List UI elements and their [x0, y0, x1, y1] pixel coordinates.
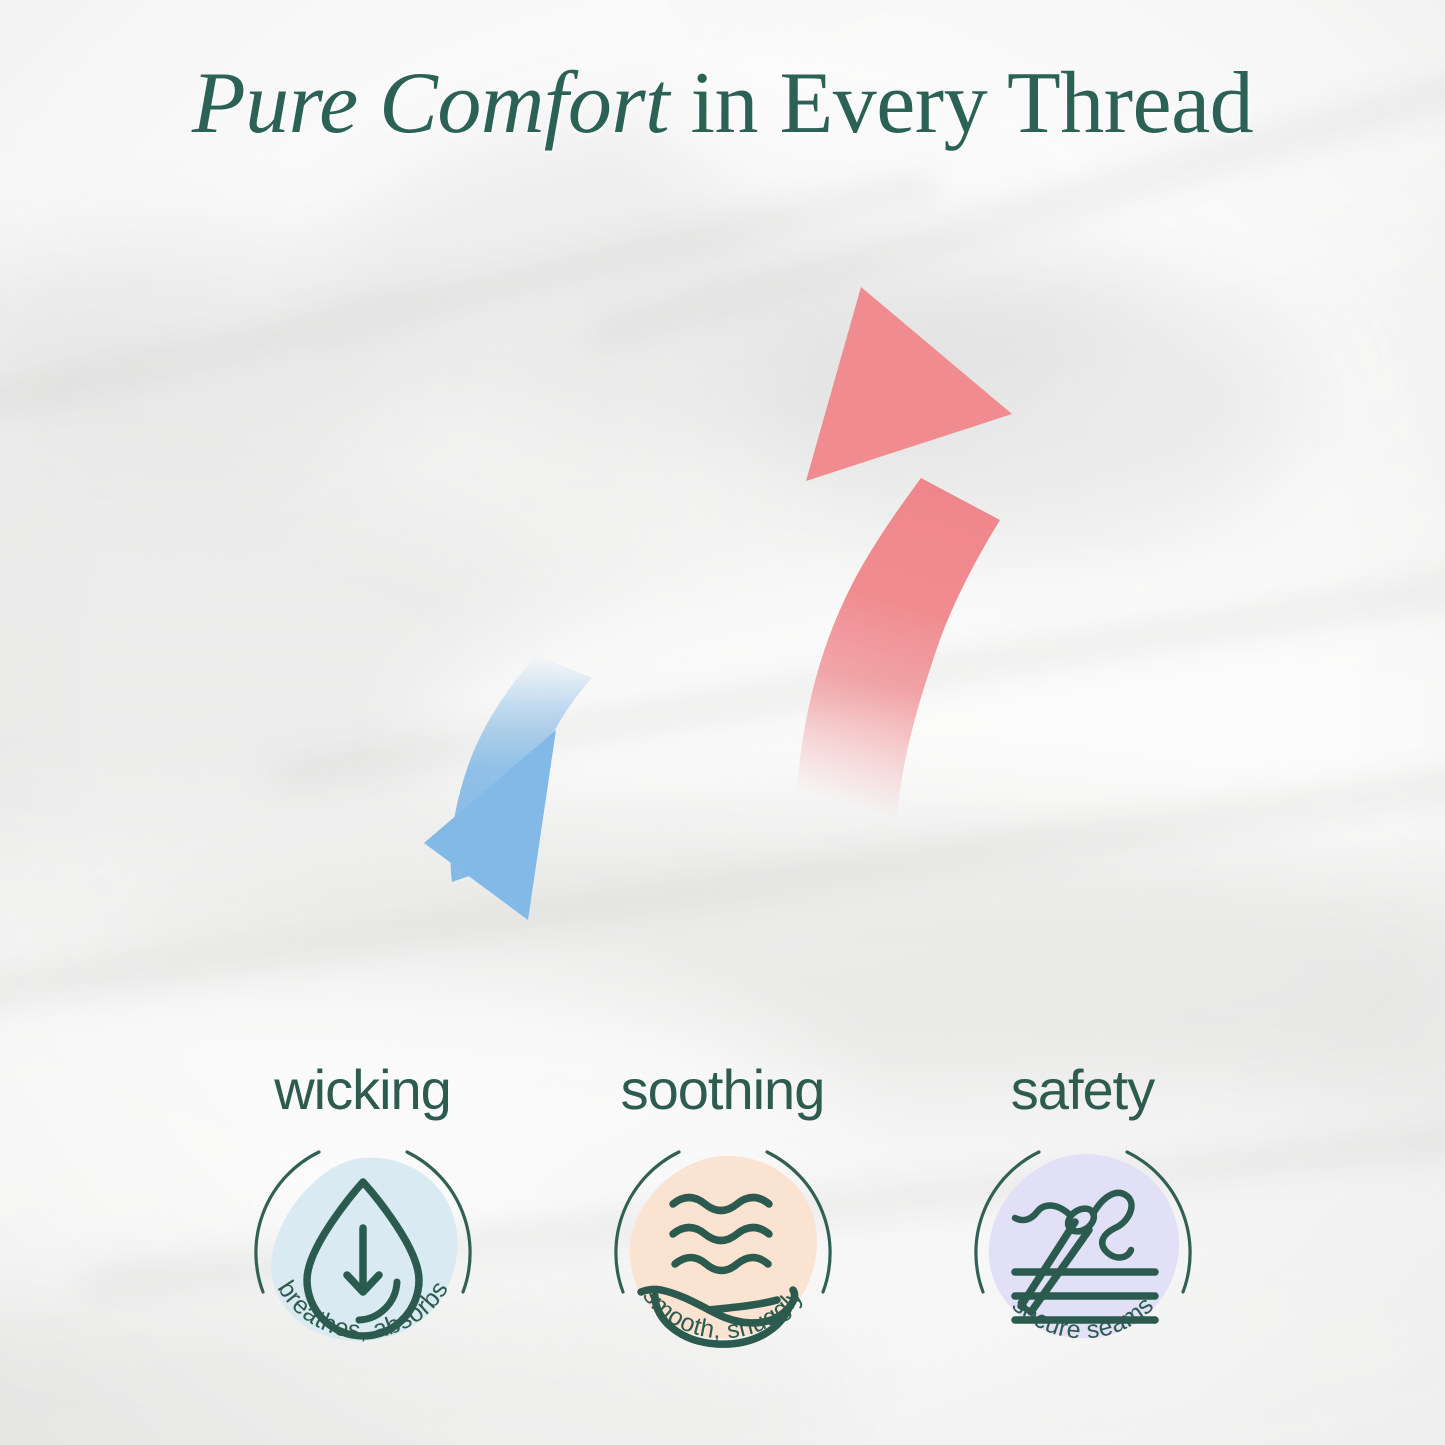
badge-ring-safety: secure seams: [957, 1130, 1209, 1382]
product-feature-image: Pure Comfort in Every Thread: [0, 0, 1445, 1445]
badge-label: wicking: [213, 1062, 513, 1118]
moisture-up-arrow: [795, 287, 1012, 818]
airflow-down-arrow: [424, 655, 592, 920]
feature-badges: wicking breathes, ab: [0, 1062, 1445, 1392]
badge-safety[interactable]: safety: [933, 1062, 1233, 1392]
badge-label: safety: [933, 1062, 1233, 1118]
badge-wicking[interactable]: wicking breathes, ab: [213, 1062, 513, 1392]
badge-label: soothing: [573, 1062, 873, 1118]
badge-ring-wicking: breathes, absorbs: [237, 1130, 489, 1382]
badge-ring-soothing: smooth, snuggly: [597, 1130, 849, 1382]
badge-soothing[interactable]: soothing smooth, snuggly: [573, 1062, 873, 1392]
